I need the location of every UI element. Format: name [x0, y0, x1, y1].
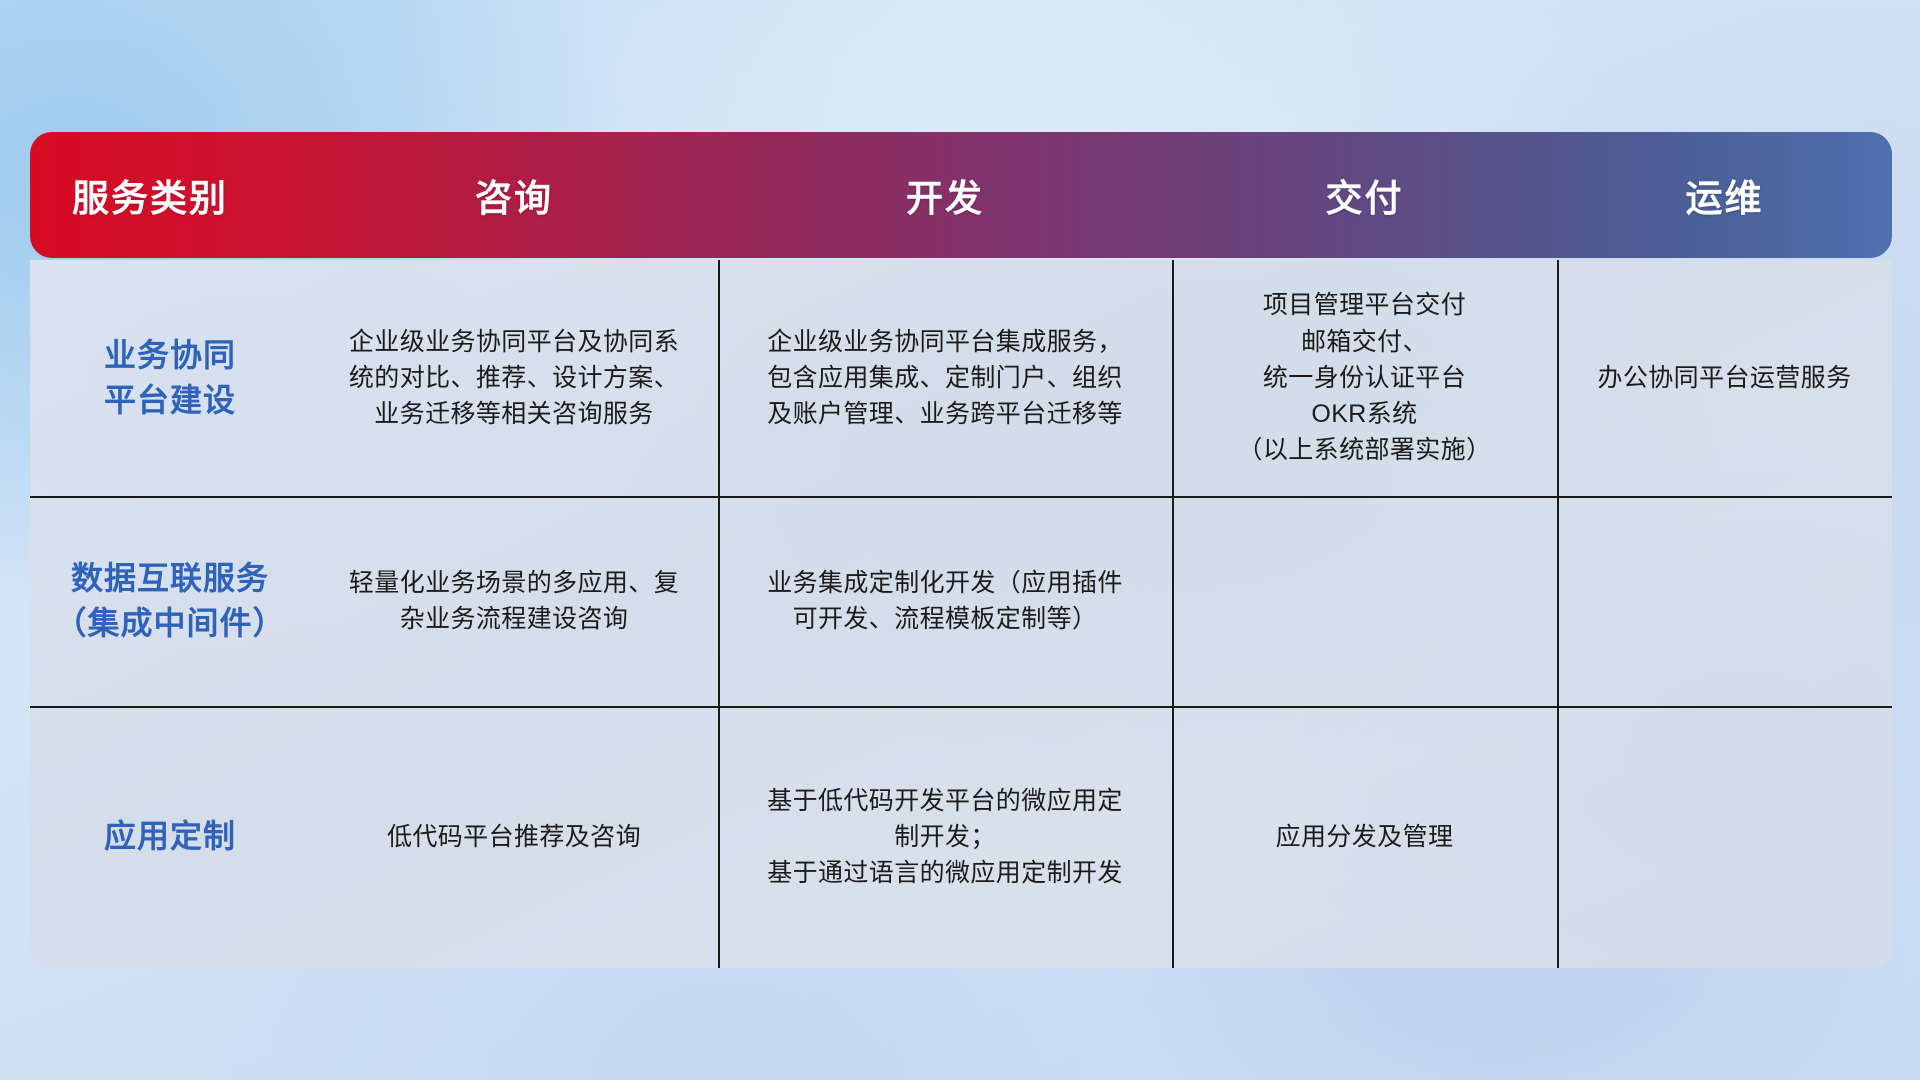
cell-ops	[1557, 706, 1892, 968]
service-category-table: 服务类别 咨询 开发 交付 运维 业务协同 平台建设 企业级业务协同平台及协同系…	[30, 132, 1892, 968]
cell-text: 基于低代码开发平台的微应用定 制开发； 基于通过语言的微应用定制开发	[767, 783, 1123, 892]
cell-text: 低代码平台推荐及咨询	[387, 819, 641, 855]
row-category-cell: 业务协同 平台建设	[30, 260, 310, 496]
cell-text: 办公协同平台运营服务	[1597, 360, 1851, 396]
cell-text: 企业级业务协同平台及协同系 统的对比、推荐、设计方案、 业务迁移等相关咨询服务	[349, 324, 679, 433]
table-row: 应用定制 低代码平台推荐及咨询 基于低代码开发平台的微应用定 制开发； 基于通过…	[30, 706, 1892, 968]
cell-deliver: 应用分发及管理	[1172, 706, 1557, 968]
table-row: 业务协同 平台建设 企业级业务协同平台及协同系 统的对比、推荐、设计方案、 业务…	[30, 260, 1892, 496]
column-header-ops: 运维	[1557, 132, 1892, 258]
table-row: 数据互联服务 （集成中间件） 轻量化业务场景的多应用、复 杂业务流程建设咨询 业…	[30, 496, 1892, 706]
column-header-deliver: 交付	[1172, 132, 1557, 258]
column-header-develop: 开发	[718, 132, 1172, 258]
cell-text: 应用分发及管理	[1276, 819, 1454, 855]
row-category-label: 业务协同 平台建设	[104, 333, 236, 424]
row-category-cell: 应用定制	[30, 706, 310, 968]
cell-text: 业务集成定制化开发（应用插件 可开发、流程模板定制等）	[767, 565, 1123, 638]
cell-consult: 企业级业务协同平台及协同系 统的对比、推荐、设计方案、 业务迁移等相关咨询服务	[310, 260, 718, 496]
cell-develop: 业务集成定制化开发（应用插件 可开发、流程模板定制等）	[718, 496, 1172, 706]
cell-ops: 办公协同平台运营服务	[1557, 260, 1892, 496]
cell-text: 企业级业务协同平台集成服务， 包含应用集成、定制门户、组织 及账户管理、业务跨平…	[767, 324, 1123, 433]
cell-develop: 企业级业务协同平台集成服务， 包含应用集成、定制门户、组织 及账户管理、业务跨平…	[718, 260, 1172, 496]
cell-develop: 基于低代码开发平台的微应用定 制开发； 基于通过语言的微应用定制开发	[718, 706, 1172, 968]
column-header-category: 服务类别	[30, 132, 310, 258]
row-category-label: 应用定制	[104, 814, 236, 859]
cell-text: 项目管理平台交付 邮箱交付、 统一身份认证平台 OKR系统 （以上系统部署实施）	[1237, 287, 1491, 468]
cell-consult: 轻量化业务场景的多应用、复 杂业务流程建设咨询	[310, 496, 718, 706]
cell-deliver	[1172, 496, 1557, 706]
table-header-row: 服务类别 咨询 开发 交付 运维	[30, 132, 1892, 258]
column-header-consult: 咨询	[310, 132, 718, 258]
row-category-cell: 数据互联服务 （集成中间件）	[30, 496, 310, 706]
cell-consult: 低代码平台推荐及咨询	[310, 706, 718, 968]
table-body: 业务协同 平台建设 企业级业务协同平台及协同系 统的对比、推荐、设计方案、 业务…	[30, 260, 1892, 968]
cell-deliver: 项目管理平台交付 邮箱交付、 统一身份认证平台 OKR系统 （以上系统部署实施）	[1172, 260, 1557, 496]
cell-text: 轻量化业务场景的多应用、复 杂业务流程建设咨询	[349, 565, 679, 638]
cell-ops	[1557, 496, 1892, 706]
row-category-label: 数据互联服务 （集成中间件）	[54, 556, 285, 647]
